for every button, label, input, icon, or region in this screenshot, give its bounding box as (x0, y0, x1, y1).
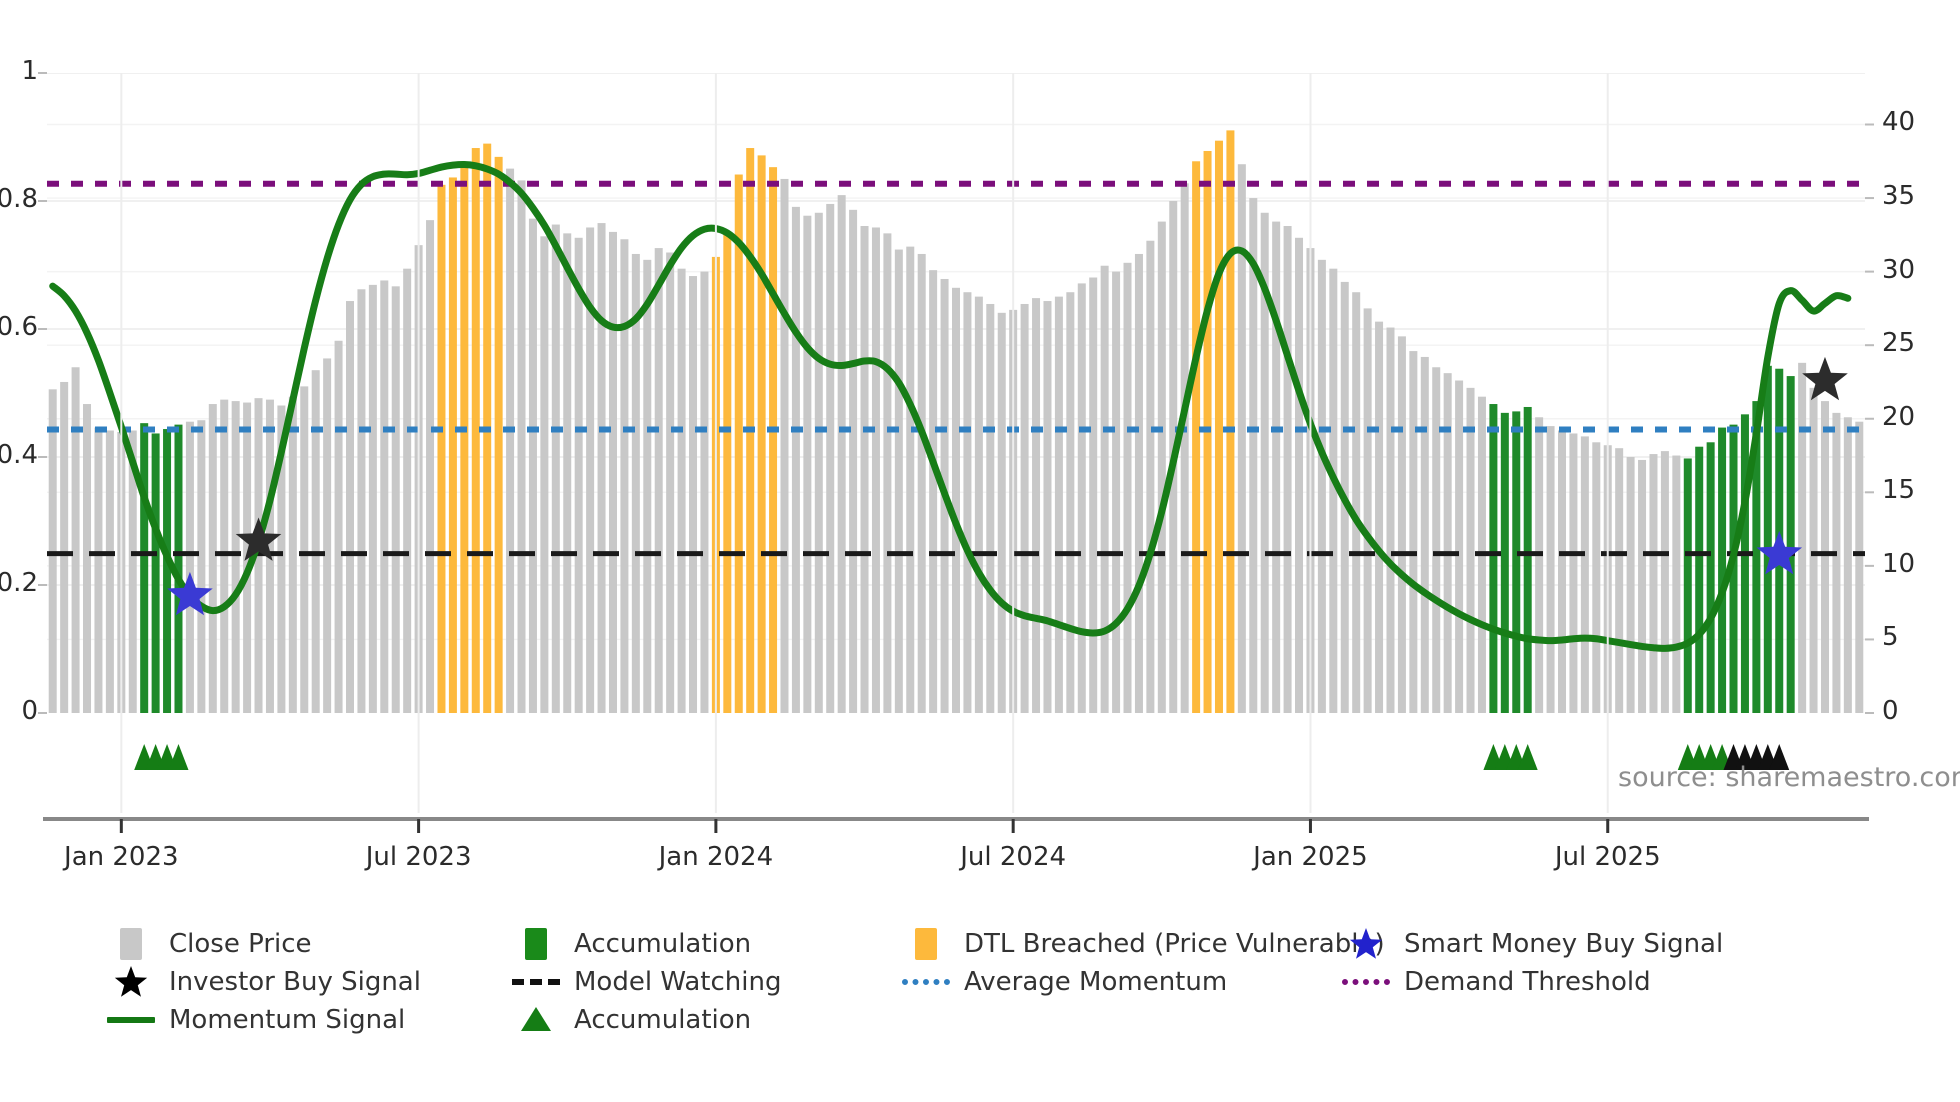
legend-row: Investor Buy SignalModel WatchingAverage… (105, 963, 1905, 1001)
legend-item-accumulation-marker[interactable]: Accumulation (510, 1001, 900, 1039)
legend-label: Investor Buy Signal (169, 965, 421, 999)
investor-buy-star-icon (105, 965, 157, 999)
chart-legend: Close PriceAccumulationDTL Breached (Pri… (105, 925, 1905, 1039)
legend-item-demand-threshold[interactable]: Demand Threshold (1340, 963, 1780, 1001)
legend-label: Smart Money Buy Signal (1404, 927, 1723, 961)
momentum-signal-line-icon (105, 1003, 157, 1037)
legend-label: DTL Breached (Price Vulnerable) (964, 927, 1385, 961)
legend-item-model-watching[interactable]: Model Watching (510, 963, 900, 1001)
x-axis-tick: Jul 2024 (903, 842, 1123, 872)
legend-label: Accumulation (574, 1003, 751, 1037)
legend-label: Demand Threshold (1404, 965, 1651, 999)
smart-money-buy-star-icon (1340, 927, 1392, 961)
legend-label: Average Momentum (964, 965, 1227, 999)
legend-label: Accumulation (574, 927, 751, 961)
legend-label: Momentum Signal (169, 1003, 405, 1037)
x-axis-tick: Jan 2025 (1200, 842, 1420, 872)
legend-item-dtl-breached[interactable]: DTL Breached (Price Vulnerable) (900, 925, 1340, 963)
average-momentum-dotted-line-icon (900, 965, 952, 999)
demand-threshold-dotted-line-icon (1340, 965, 1392, 999)
accumulation-marker-triangle-icon (510, 1003, 562, 1037)
model-watching-dashed-line-icon (510, 965, 562, 999)
legend-item-average-momentum[interactable]: Average Momentum (900, 963, 1340, 1001)
dtl-breached-swatch-icon (900, 927, 952, 961)
x-axis-tick: Jul 2025 (1498, 842, 1718, 872)
legend-label: Close Price (169, 927, 312, 961)
legend-row: Close PriceAccumulationDTL Breached (Pri… (105, 925, 1905, 963)
legend-item-momentum-signal[interactable]: Momentum Signal (105, 1001, 510, 1039)
x-axis-tick: Jul 2023 (309, 842, 529, 872)
close-price-swatch-icon (105, 927, 157, 961)
chart-root: 00.20.40.60.81 0510152025303540 Jan 2023… (0, 0, 1960, 1102)
legend-item-close-price[interactable]: Close Price (105, 925, 510, 963)
legend-row: Momentum SignalAccumulation (105, 1001, 1905, 1039)
legend-item-smart-money-buy[interactable]: Smart Money Buy Signal (1340, 925, 1780, 963)
x-axis-tick: Jan 2024 (606, 842, 826, 872)
source-attribution: source: sharemaestro.com (1618, 762, 1960, 793)
legend-item-investor-buy[interactable]: Investor Buy Signal (105, 963, 510, 1001)
legend-label: Model Watching (574, 965, 781, 999)
legend-item-accumulation-bar[interactable]: Accumulation (510, 925, 900, 963)
x-axis-tick: Jan 2023 (11, 842, 231, 872)
accumulation-bar-swatch-icon (510, 927, 562, 961)
